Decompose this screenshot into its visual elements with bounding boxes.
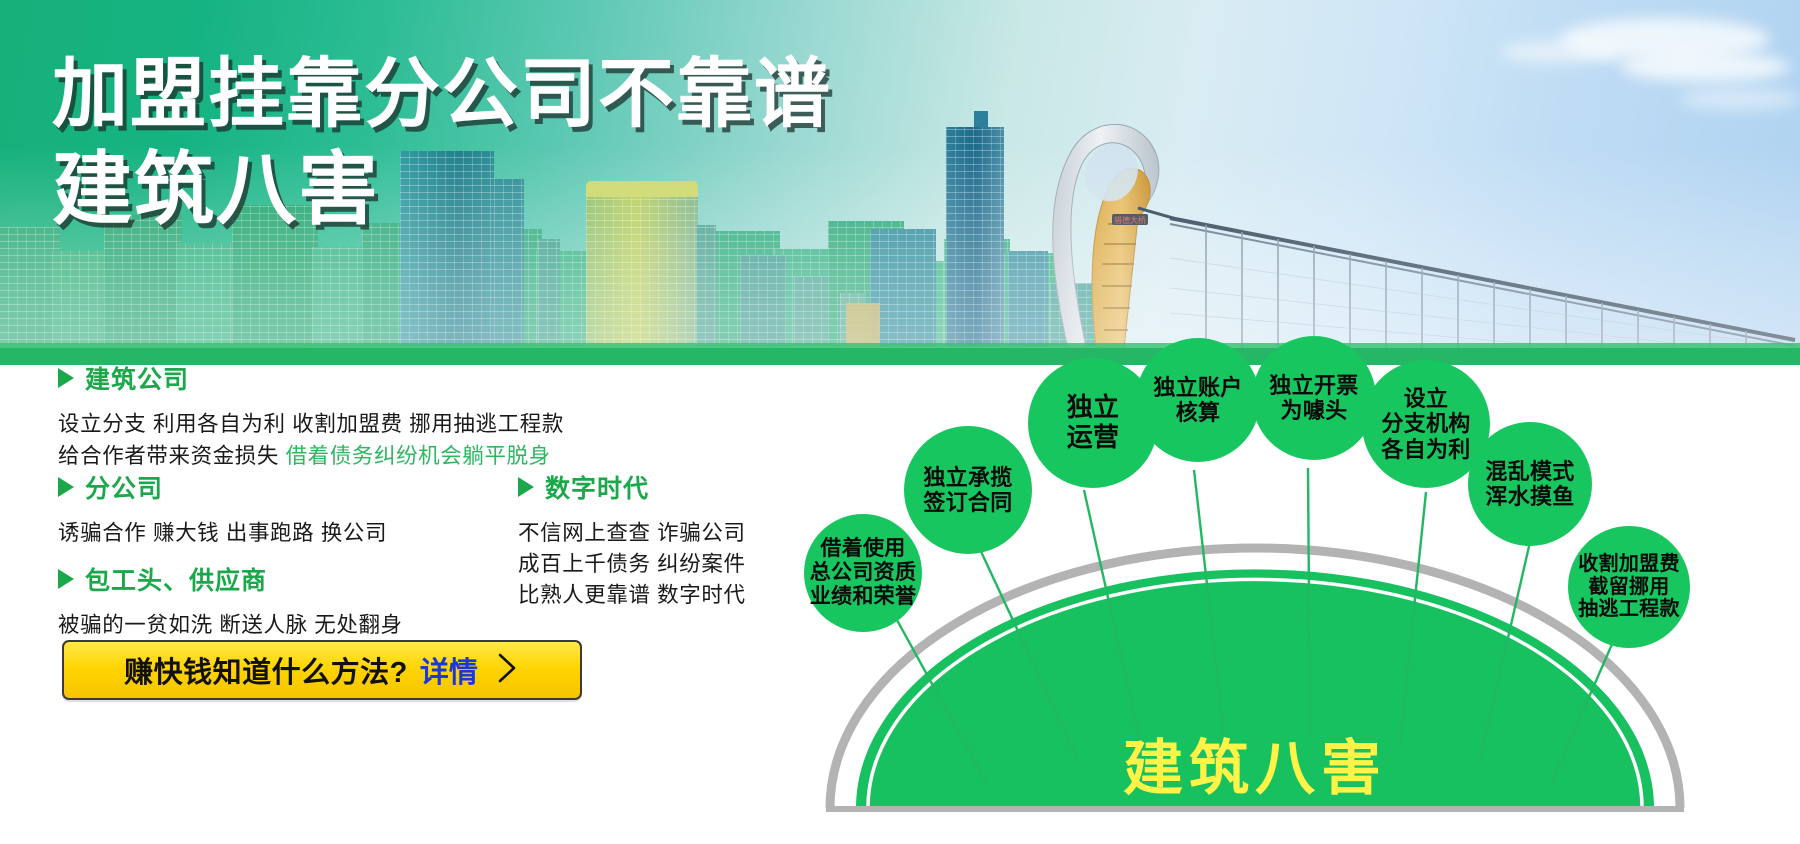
left-content: 建筑公司 设立分支 利用各自为利 收割加盟费 挪用抽逃工程款 给合作者带来资金损…: [0, 365, 800, 844]
section-heading: 包工头、供应商: [58, 561, 403, 597]
triangle-bullet-icon: [58, 368, 74, 388]
bubble-line: 签订合同: [920, 490, 1015, 515]
section-heading: 建筑公司: [58, 360, 564, 396]
bubble-chaotic-mode[interactable]: 混乱模式 浑水摸鱼: [1468, 422, 1592, 546]
section-construction-company: 建筑公司 设立分支 利用各自为利 收割加盟费 挪用抽逃工程款 给合作者带来资金损…: [58, 360, 564, 473]
bubble-borrowed-qualification[interactable]: 借着使用 总公司资质 业绩和荣誉: [804, 514, 922, 632]
bubble-independent-operation[interactable]: 独立 运营: [1028, 358, 1158, 488]
highlight-text: 借着债务纠纷机会躺平脱身: [286, 444, 551, 468]
bubble-independent-account[interactable]: 独立账户 核算: [1136, 338, 1260, 462]
bubble-line: 混乱模式: [1482, 459, 1577, 484]
body-line: 成百上千债务 纠纷案件: [518, 549, 746, 580]
section-heading: 分公司: [58, 469, 387, 505]
section-branch-company: 分公司 诱骗合作 赚大钱 出事跑路 换公司: [58, 469, 387, 550]
section-body: 被骗的一贫如洗 断送人脉 无处翻身: [58, 610, 403, 642]
body-line: 诱骗合作 赚大钱 出事跑路 换公司: [58, 518, 387, 550]
headline-line-2: 建筑八害: [52, 145, 1052, 235]
bubble-line: 独立承揽: [920, 465, 1015, 490]
body-line: 比熟人更靠谱 数字时代: [518, 580, 746, 611]
bubble-line: 独立账户: [1150, 375, 1245, 400]
section-title: 包工头、供应商: [85, 561, 267, 597]
section-body: 设立分支 利用各自为利 收割加盟费 挪用抽逃工程款 给合作者带来资金损失 借着债…: [58, 409, 564, 473]
section-contractor-supplier: 包工头、供应商 被骗的一贫如洗 断送人脉 无处翻身: [58, 561, 403, 642]
section-digital-era: 数字时代 不信网上查查 诈骗公司 成百上千债务 纠纷案件 比熟人更靠谱 数字时代: [518, 469, 746, 611]
bubble-independent-invoicing[interactable]: 独立开票 为噱头: [1252, 336, 1376, 460]
bubble-line: 运营: [1064, 423, 1123, 453]
hero-banner: 猎德大桥 加盟挂靠分公司不靠谱 建筑八害: [0, 0, 1800, 365]
bubble-line: 浑水摸鱼: [1482, 484, 1577, 509]
body-line: 设立分支 利用各自为利 收割加盟费 挪用抽逃工程款: [58, 409, 564, 441]
headline-line-1: 加盟挂靠分公司不靠谱: [52, 52, 1052, 137]
bubble-line: 抽逃工程款: [1575, 598, 1683, 621]
cta-detail-link[interactable]: 详情: [420, 649, 478, 691]
bubble-line: 各自为利: [1378, 437, 1473, 462]
section-body: 不信网上查查 诈骗公司 成百上千债务 纠纷案件 比熟人更靠谱 数字时代: [518, 518, 746, 611]
bubble-line: 为噱头: [1266, 398, 1361, 423]
section-title: 分公司: [85, 469, 163, 505]
bubble-line: 核算: [1150, 400, 1245, 425]
bubble-line: 业绩和荣誉: [807, 585, 920, 609]
bubble-line: 设立: [1378, 386, 1473, 411]
section-title: 数字时代: [545, 469, 649, 505]
section-heading: 数字时代: [518, 469, 746, 505]
triangle-bullet-icon: [58, 477, 74, 497]
poster-root: 猎德大桥 加盟挂靠分公司不靠谱 建筑八害 建筑公司 设立分支 利用各自为利 收割…: [0, 0, 1800, 844]
section-title: 建筑公司: [85, 360, 189, 396]
triangle-bullet-icon: [58, 569, 74, 589]
bubble-line: 独立开票: [1266, 373, 1361, 398]
bahai-diagram: 借着使用 总公司资质 业绩和荣誉 独立承揽 签订合同 独立 运营 独立账户 核算: [790, 330, 1800, 844]
body-line: 不信网上查查 诈骗公司: [518, 518, 746, 549]
cta-button[interactable]: 赚快钱知道什么方法? 详情: [62, 640, 582, 700]
dome-center-label: 建筑八害: [990, 720, 1520, 807]
bubble-line: 借着使用: [807, 537, 920, 561]
cta-question-text: 赚快钱知道什么方法?: [124, 649, 408, 691]
bubble-line: 分支机构: [1378, 411, 1473, 436]
triangle-bullet-icon: [518, 477, 534, 497]
bubble-franchise-fee-harvest[interactable]: 收割加盟费 截留挪用 抽逃工程款: [1568, 526, 1690, 648]
bubble-line: 截留挪用: [1575, 576, 1683, 599]
headline-block: 加盟挂靠分公司不靠谱 建筑八害: [52, 52, 1052, 235]
bubble-line: 总公司资质: [807, 561, 920, 585]
bubble-line: 独立: [1064, 393, 1123, 423]
section-body: 诱骗合作 赚大钱 出事跑路 换公司: [58, 518, 387, 550]
body-line: 被骗的一贫如洗 断送人脉 无处翻身: [58, 610, 403, 642]
chevron-right-icon: [494, 651, 520, 690]
body-line: 给合作者带来资金损失 借着债务纠纷机会躺平脱身: [58, 441, 564, 473]
bubble-independent-contracting[interactable]: 独立承揽 签订合同: [904, 426, 1032, 554]
bubble-line: 收割加盟费: [1575, 553, 1683, 576]
